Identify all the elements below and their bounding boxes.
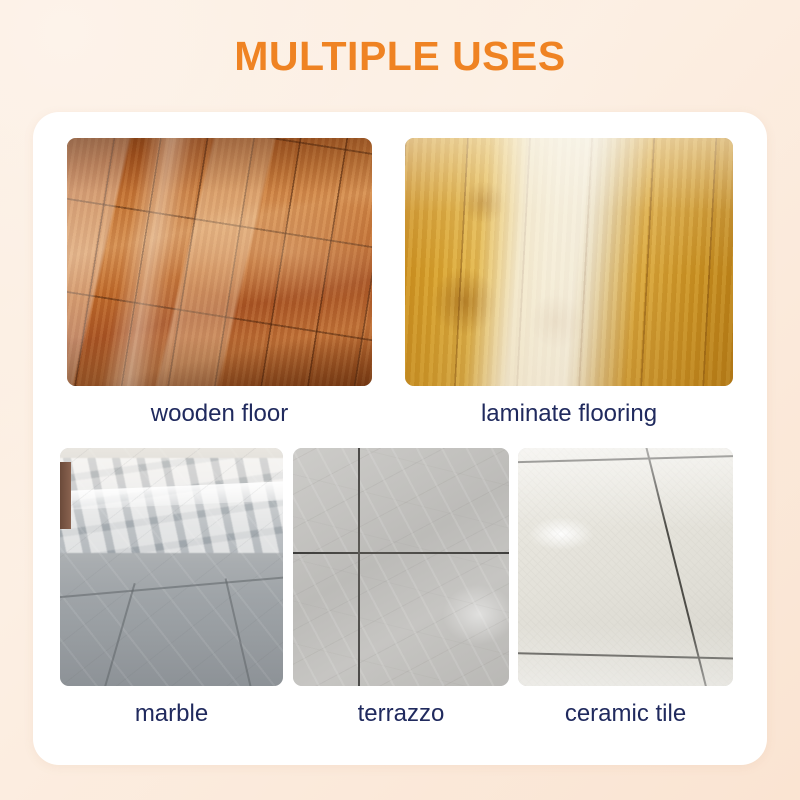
wooden-floor-photo[interactable]: [67, 138, 372, 386]
caption-ceramic-tile: ceramic tile: [518, 700, 733, 728]
caption-marble: marble: [60, 700, 283, 728]
laminate-flooring-photo[interactable]: [405, 138, 733, 386]
caption-laminate-flooring: laminate flooring: [405, 400, 733, 428]
terrazzo-veining: [293, 448, 509, 686]
ceramic-tile-photo[interactable]: [518, 448, 733, 686]
caption-terrazzo: terrazzo: [293, 700, 509, 728]
uses-gallery-grid: wooden floor laminate flooring: [33, 112, 767, 765]
ceramic-texture: [518, 448, 733, 686]
terrazzo-texture: [293, 448, 509, 686]
page-title: MULTIPLE USES: [234, 33, 565, 80]
uses-card: wooden floor laminate flooring: [33, 112, 767, 765]
header: MULTIPLE USES: [0, 0, 800, 112]
wood-post: [60, 462, 71, 529]
marble-floor-photo[interactable]: [60, 448, 283, 686]
terrazzo-tile-photo[interactable]: [293, 448, 509, 686]
caption-wooden-floor: wooden floor: [67, 400, 372, 428]
marble-texture: [60, 448, 283, 686]
laminate-plank-texture: [405, 138, 733, 386]
marble-veining: [60, 448, 283, 686]
gloss-highlight: [518, 448, 733, 686]
wood-plank-texture: [67, 138, 372, 386]
grout-line-vertical: [358, 448, 360, 686]
grout-line-horizontal: [293, 552, 509, 555]
